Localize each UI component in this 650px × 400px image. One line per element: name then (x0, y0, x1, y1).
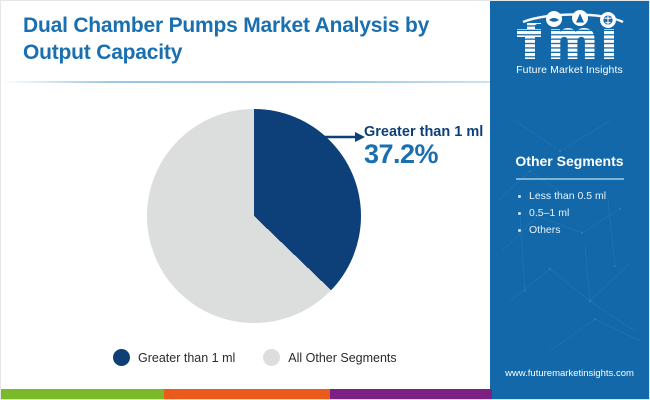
callout-label: Greater than 1 ml (364, 124, 483, 140)
callout-value: 37.2% (364, 139, 438, 170)
strip-segment-purple (330, 389, 492, 399)
side-panel: Future Market Insights Other Segments Le… (490, 1, 649, 391)
legend-label: Greater than 1 ml (138, 351, 235, 365)
fmi-logo-mark-icon (507, 9, 633, 61)
heading-underline (516, 178, 624, 180)
strip-segment-orange (164, 389, 330, 399)
page-title: Dual Chamber Pumps Market Analysis by Ou… (23, 13, 453, 67)
list-item: 0.5–1 ml (516, 205, 641, 222)
chart-legend: Greater than 1 ml All Other Segments (113, 349, 397, 366)
other-segments-list: Less than 0.5 ml 0.5–1 ml Others (516, 188, 641, 239)
other-segments-heading: Other Segments (490, 153, 649, 169)
website-url[interactable]: www.futuremarketinsights.com (490, 368, 649, 379)
logo-tagline: Future Market Insights (490, 64, 649, 76)
list-item: Less than 0.5 ml (516, 188, 641, 205)
fmi-logo: Future Market Insights (490, 9, 649, 76)
infographic-page: Dual Chamber Pumps Market Analysis by Ou… (0, 0, 650, 400)
legend-swatch-icon (113, 349, 130, 366)
strip-segment-blue (492, 389, 650, 399)
legend-item: All Other Segments (263, 349, 396, 366)
header-divider (1, 81, 492, 83)
strip-segment-green (1, 389, 164, 399)
bottom-color-strip (1, 389, 650, 399)
callout-arrow-icon (317, 131, 365, 143)
list-item: Others (516, 222, 641, 239)
legend-item: Greater than 1 ml (113, 349, 235, 366)
legend-swatch-icon (263, 349, 280, 366)
legend-label: All Other Segments (288, 351, 396, 365)
